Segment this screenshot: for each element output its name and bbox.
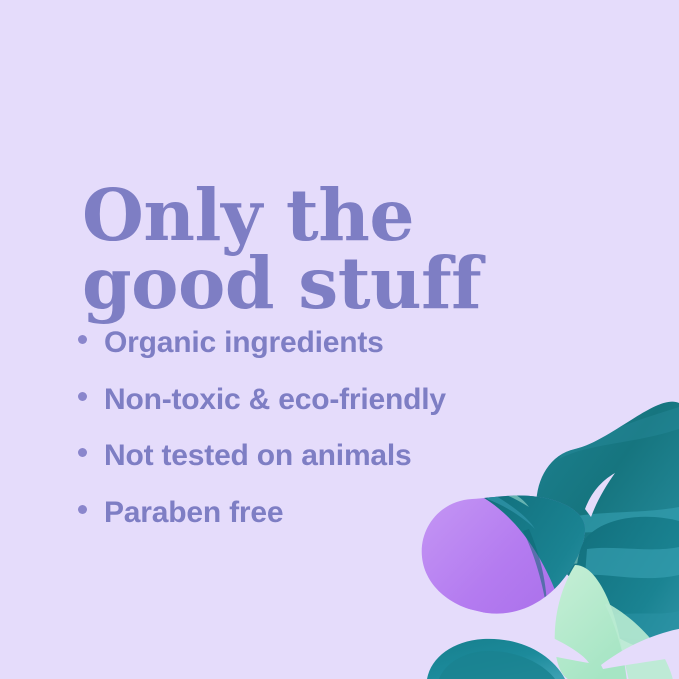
page-title: Only the good stuff	[82, 181, 602, 317]
petal-bottom-left	[427, 639, 565, 679]
list-item-label: Paraben free	[104, 496, 283, 530]
list-item-label: Non-toxic & eco-friendly	[104, 383, 446, 417]
list-item: Organic ingredients	[78, 326, 598, 383]
list-item-label: Organic ingredients	[104, 326, 384, 360]
petal-mint-center	[555, 565, 673, 679]
benefits-list: Organic ingredients Non-toxic & eco-frie…	[78, 326, 598, 552]
bullet-dot-icon	[78, 448, 87, 457]
bullet-dot-icon	[78, 392, 87, 401]
list-item: Non-toxic & eco-friendly	[78, 383, 598, 440]
list-item-label: Not tested on animals	[104, 439, 412, 473]
promo-graphic-canvas: Only the good stuff Organic ingredients …	[0, 0, 679, 679]
bullet-dot-icon	[78, 505, 87, 514]
list-item: Not tested on animals	[78, 439, 598, 496]
bullet-dot-icon	[78, 335, 87, 344]
list-item: Paraben free	[78, 496, 598, 553]
